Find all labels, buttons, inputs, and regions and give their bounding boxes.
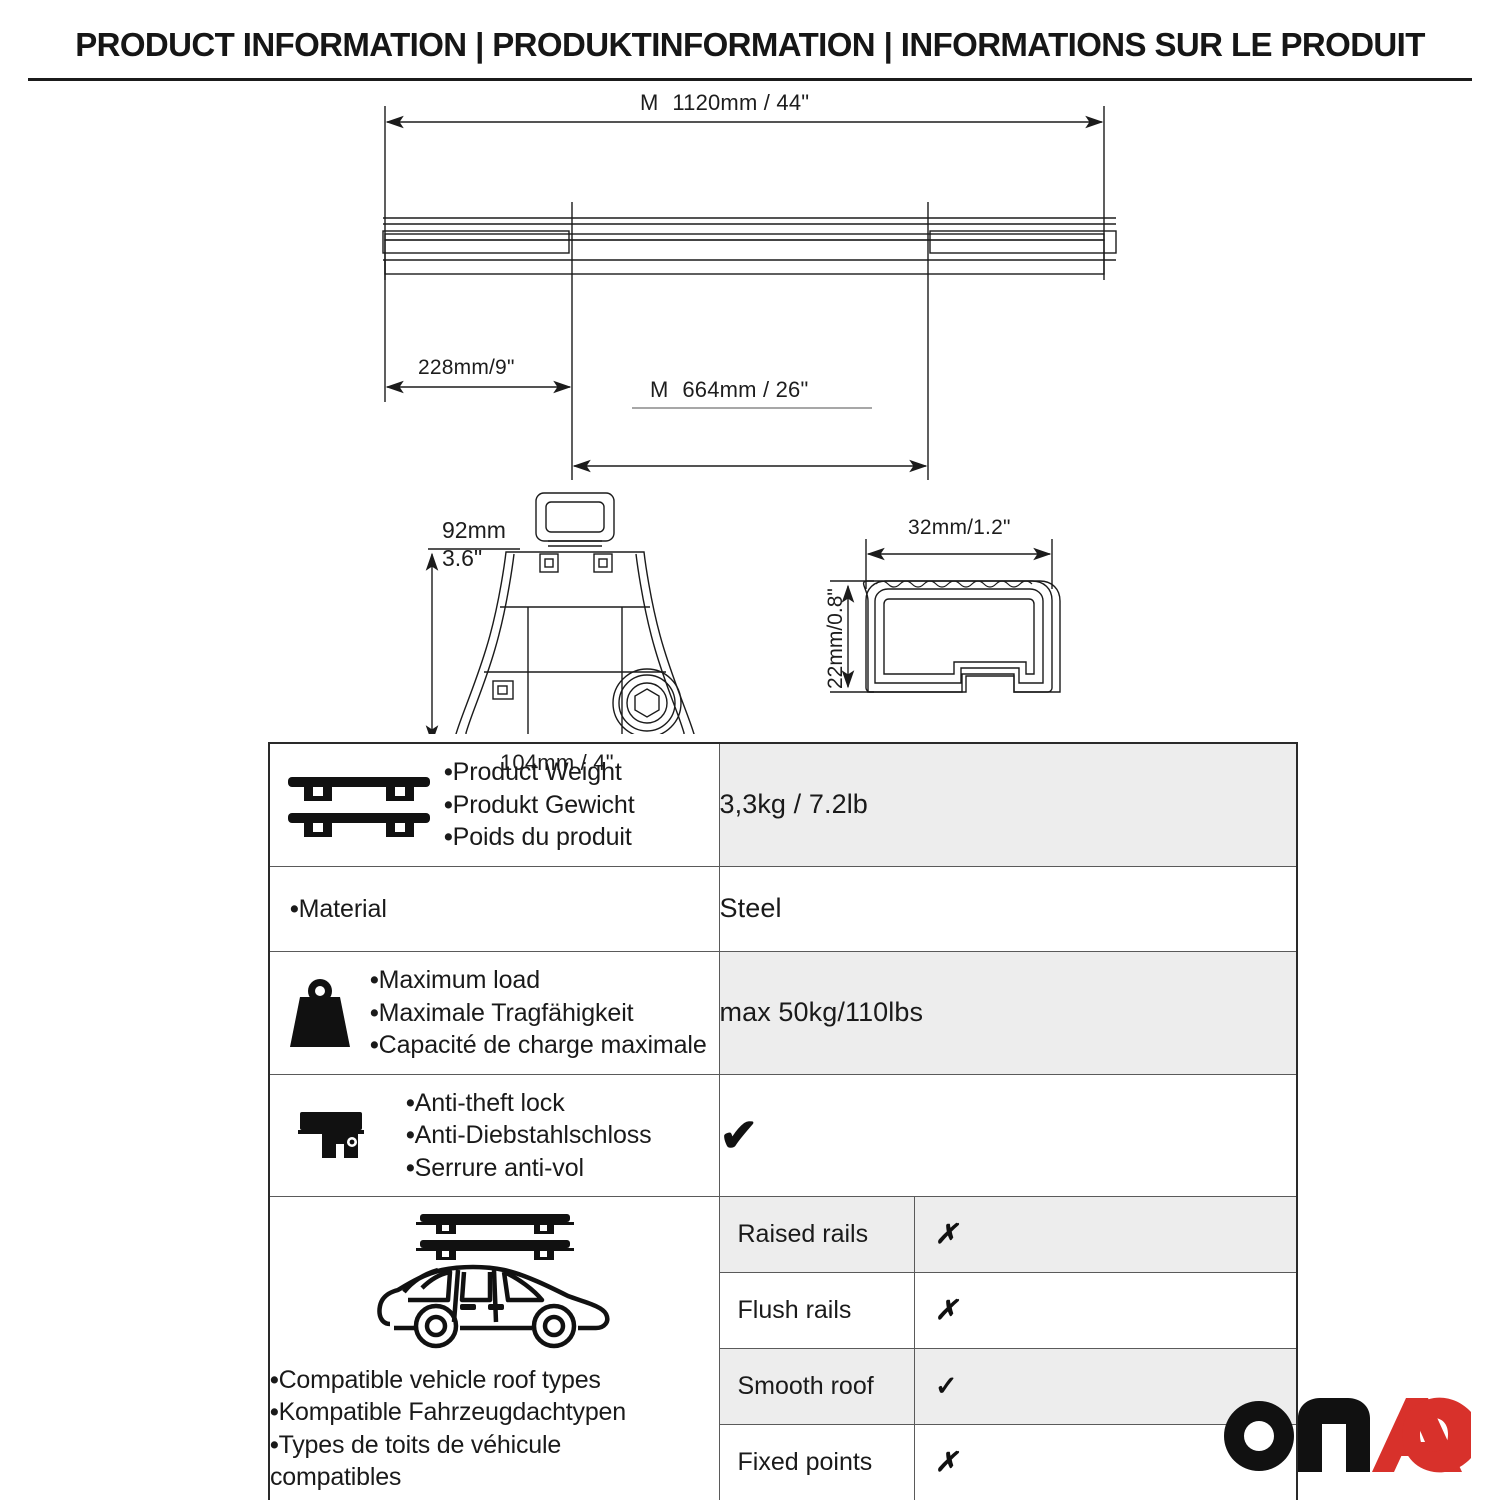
foot-height-in: 3.6" [442,544,506,572]
roof-type-name: Fixed points [720,1425,915,1500]
compatibility-label-text: •Compatible vehicle roof types •Kompatib… [270,1364,670,1494]
bullet-marker: • [406,1154,415,1182]
spec-label-cell: •Material [269,866,719,952]
bullet-marker: • [444,823,453,851]
label-line-en: Product Weight [453,758,622,786]
label-line-en: Anti-theft lock [415,1089,565,1117]
table-row: •Maximum load •Maximale Tragfähigkeit •C… [269,952,1297,1075]
span-value: 664mm / 26" [682,377,808,402]
bullet-marker: • [444,758,453,786]
label-line-de: Produkt Gewicht [453,791,635,819]
bullet-marker: • [270,1398,279,1426]
roof-type-row: Smooth roof ✓ [720,1349,1297,1425]
spec-label-cell: •Maximum load •Maximale Tragfähigkeit •C… [269,952,719,1075]
profile-height-label: 22mm/0.8" [824,588,848,689]
foot-height-label: 92mm 3.6" [442,516,506,572]
crossbars-icon [284,765,434,845]
table-row: •Anti-theft lock •Anti-Diebstahlschloss … [269,1074,1297,1197]
label-line-fr: Types de toits de véhicule compatibles [270,1431,561,1492]
foot-height-mm: 92mm [442,516,506,544]
spec-label-cell: •Anti-theft lock •Anti-Diebstahlschloss … [269,1074,719,1197]
label-line-en: Material [299,895,387,923]
label-line-de: Anti-Diebstahlschloss [415,1121,652,1149]
profile-width-label: 32mm/1.2" [908,516,1011,540]
bar-length-label: M1120mm / 44" [640,90,809,116]
cross-icon: ✗ [935,1295,958,1325]
bullet-marker: • [370,966,379,994]
spec-value-material: Steel [719,866,1297,952]
roof-type-value: ✗ [915,1273,1297,1349]
bullet-marker: • [406,1121,415,1149]
label-line-fr: Serrure anti-vol [415,1154,584,1182]
spec-label-text: •Product Weight •Produkt Gewicht •Poids … [444,756,635,854]
cross-icon: ✗ [935,1447,958,1477]
specification-table: •Product Weight •Produkt Gewicht •Poids … [268,742,1298,1500]
roof-type-row: Raised rails ✗ [720,1197,1297,1273]
technical-drawings: M1120mm / 44" 228mm/9" M664mm / 26" 92mm… [0,84,1500,734]
label-line-en: Maximum load [379,966,540,994]
check-icon: ✓ [935,1371,958,1401]
roof-type-name: Flush rails [720,1273,915,1349]
bullet-marker: • [370,999,379,1027]
span-label: M664mm / 26" [650,377,809,403]
spec-value-max-load: max 50kg/110lbs [719,952,1297,1075]
spec-value-weight: 3,3kg / 7.2lb [719,743,1297,866]
label-line-en: Compatible vehicle roof types [279,1366,601,1394]
bar-length-value: 1120mm / 44" [672,90,809,115]
roof-type-row: Fixed points ✗ [720,1425,1297,1500]
product-information-sheet: PRODUCT INFORMATION | PRODUKTINFORMATION… [0,0,1500,1500]
bullet-marker: • [406,1089,415,1117]
cross-icon: ✗ [935,1219,958,1249]
label-line-de: Kompatible Fahrzeugdachtypen [279,1398,626,1426]
roof-type-row: Flush rails ✗ [720,1273,1297,1349]
spec-label-cell: •Product Weight •Produkt Gewicht •Poids … [269,743,719,866]
roof-type-value: ✗ [915,1197,1297,1273]
roof-types-table: Raised rails ✗ Flush rails ✗ Smooth roof… [720,1197,1297,1500]
bullet-marker: • [444,791,453,819]
spec-value-antitheft: ✔ [719,1074,1297,1197]
bullet-marker: • [290,895,299,923]
span-prefix: M [650,377,670,402]
car-with-rack-icon [364,1204,624,1354]
bullet-marker: • [270,1431,279,1459]
bullet-marker: • [270,1366,279,1394]
weight-icon [284,975,356,1051]
page-title: PRODUCT INFORMATION | PRODUKTINFORMATION… [0,26,1500,64]
roof-type-name: Raised rails [720,1197,915,1273]
bullet-marker: • [370,1031,379,1059]
end-offset-label: 228mm/9" [418,356,515,380]
spec-label-text: •Anti-theft lock •Anti-Diebstahlschloss … [406,1087,652,1185]
label-line-de: Maximale Tragfähigkeit [379,999,634,1027]
table-row: •Product Weight •Produkt Gewicht •Poids … [269,743,1297,866]
table-row: •Compatible vehicle roof types •Kompatib… [269,1197,1297,1500]
compatibility-label-cell: •Compatible vehicle roof types •Kompatib… [269,1197,719,1500]
drawing-svg [0,84,1500,734]
omac-logo [1222,1390,1472,1476]
table-row: •Material Steel [269,866,1297,952]
spec-label-text: •Maximum load •Maximale Tragfähigkeit •C… [370,964,707,1062]
header-divider [28,78,1472,81]
roof-types-cell: Raised rails ✗ Flush rails ✗ Smooth roof… [719,1197,1297,1500]
label-line-fr: Poids du produit [453,823,632,851]
label-line-fr: Capacité de charge maximale [379,1031,707,1059]
spec-label-text: •Material [290,893,387,926]
roof-type-name: Smooth roof [720,1349,915,1425]
lock-icon [296,1106,376,1164]
check-icon: ✔ [720,1109,759,1161]
bar-length-prefix: M [640,90,660,115]
